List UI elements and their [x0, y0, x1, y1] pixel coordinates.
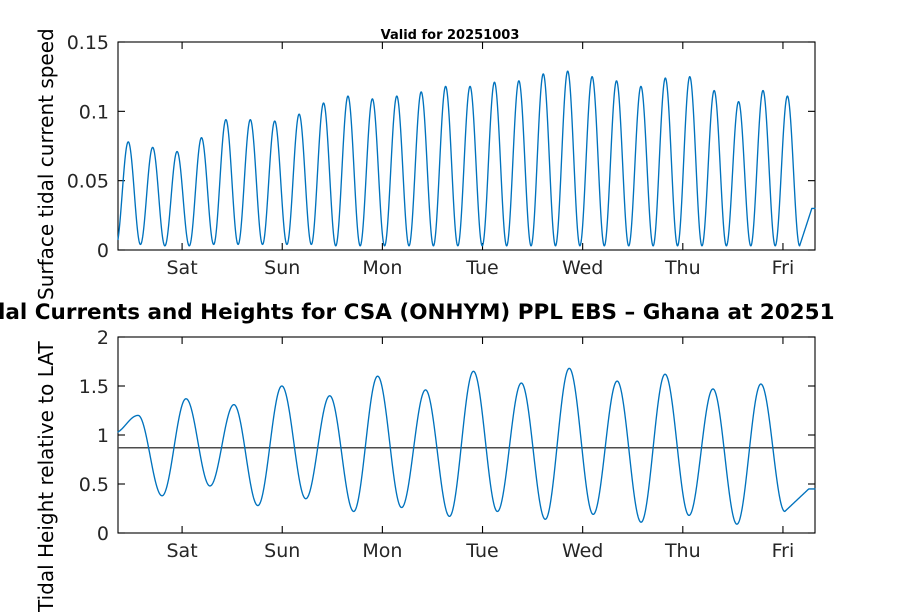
bottom-axes: 00.511.52 SatSunMonTueWedThuFri [79, 327, 815, 562]
svg-text:Thu: Thu [664, 540, 701, 562]
svg-text:Sun: Sun [264, 257, 300, 279]
plot-canvas: 00.050.10.15 SatSunMonTueWedThuFri 00.51… [0, 0, 900, 600]
svg-text:Fri: Fri [772, 257, 795, 279]
svg-text:Mon: Mon [362, 257, 402, 279]
svg-text:Sun: Sun [264, 540, 300, 562]
tidal-forecast-figure: Surface tidal current speed Tidal Height… [0, 0, 900, 600]
bottom-axes-frame [118, 337, 815, 533]
svg-text:0.15: 0.15 [67, 32, 109, 54]
svg-text:0: 0 [97, 523, 109, 545]
svg-text:Thu: Thu [664, 257, 701, 279]
top-axes: 00.050.10.15 SatSunMonTueWedThuFri [67, 32, 815, 279]
svg-text:Wed: Wed [562, 540, 603, 562]
top-y-tick-labels: 00.050.10.15 [67, 32, 109, 262]
svg-text:1.5: 1.5 [79, 376, 109, 398]
svg-text:Mon: Mon [362, 540, 402, 562]
top-x-tick-labels: SatSunMonTueWedThuFri [167, 257, 795, 279]
svg-text:Tue: Tue [465, 257, 498, 279]
svg-text:Fri: Fri [772, 540, 795, 562]
svg-text:Tue: Tue [465, 540, 498, 562]
svg-text:0.05: 0.05 [67, 171, 109, 193]
svg-text:2: 2 [97, 327, 109, 349]
svg-text:Sat: Sat [167, 257, 198, 279]
bottom-x-tick-labels: SatSunMonTueWedThuFri [167, 540, 795, 562]
svg-text:0.5: 0.5 [79, 474, 109, 496]
bottom-y-tick-labels: 00.511.52 [79, 327, 109, 545]
svg-text:Sat: Sat [167, 540, 198, 562]
svg-text:Wed: Wed [562, 257, 603, 279]
svg-text:0.1: 0.1 [79, 101, 109, 123]
svg-text:1: 1 [97, 425, 109, 447]
svg-text:0: 0 [97, 240, 109, 262]
